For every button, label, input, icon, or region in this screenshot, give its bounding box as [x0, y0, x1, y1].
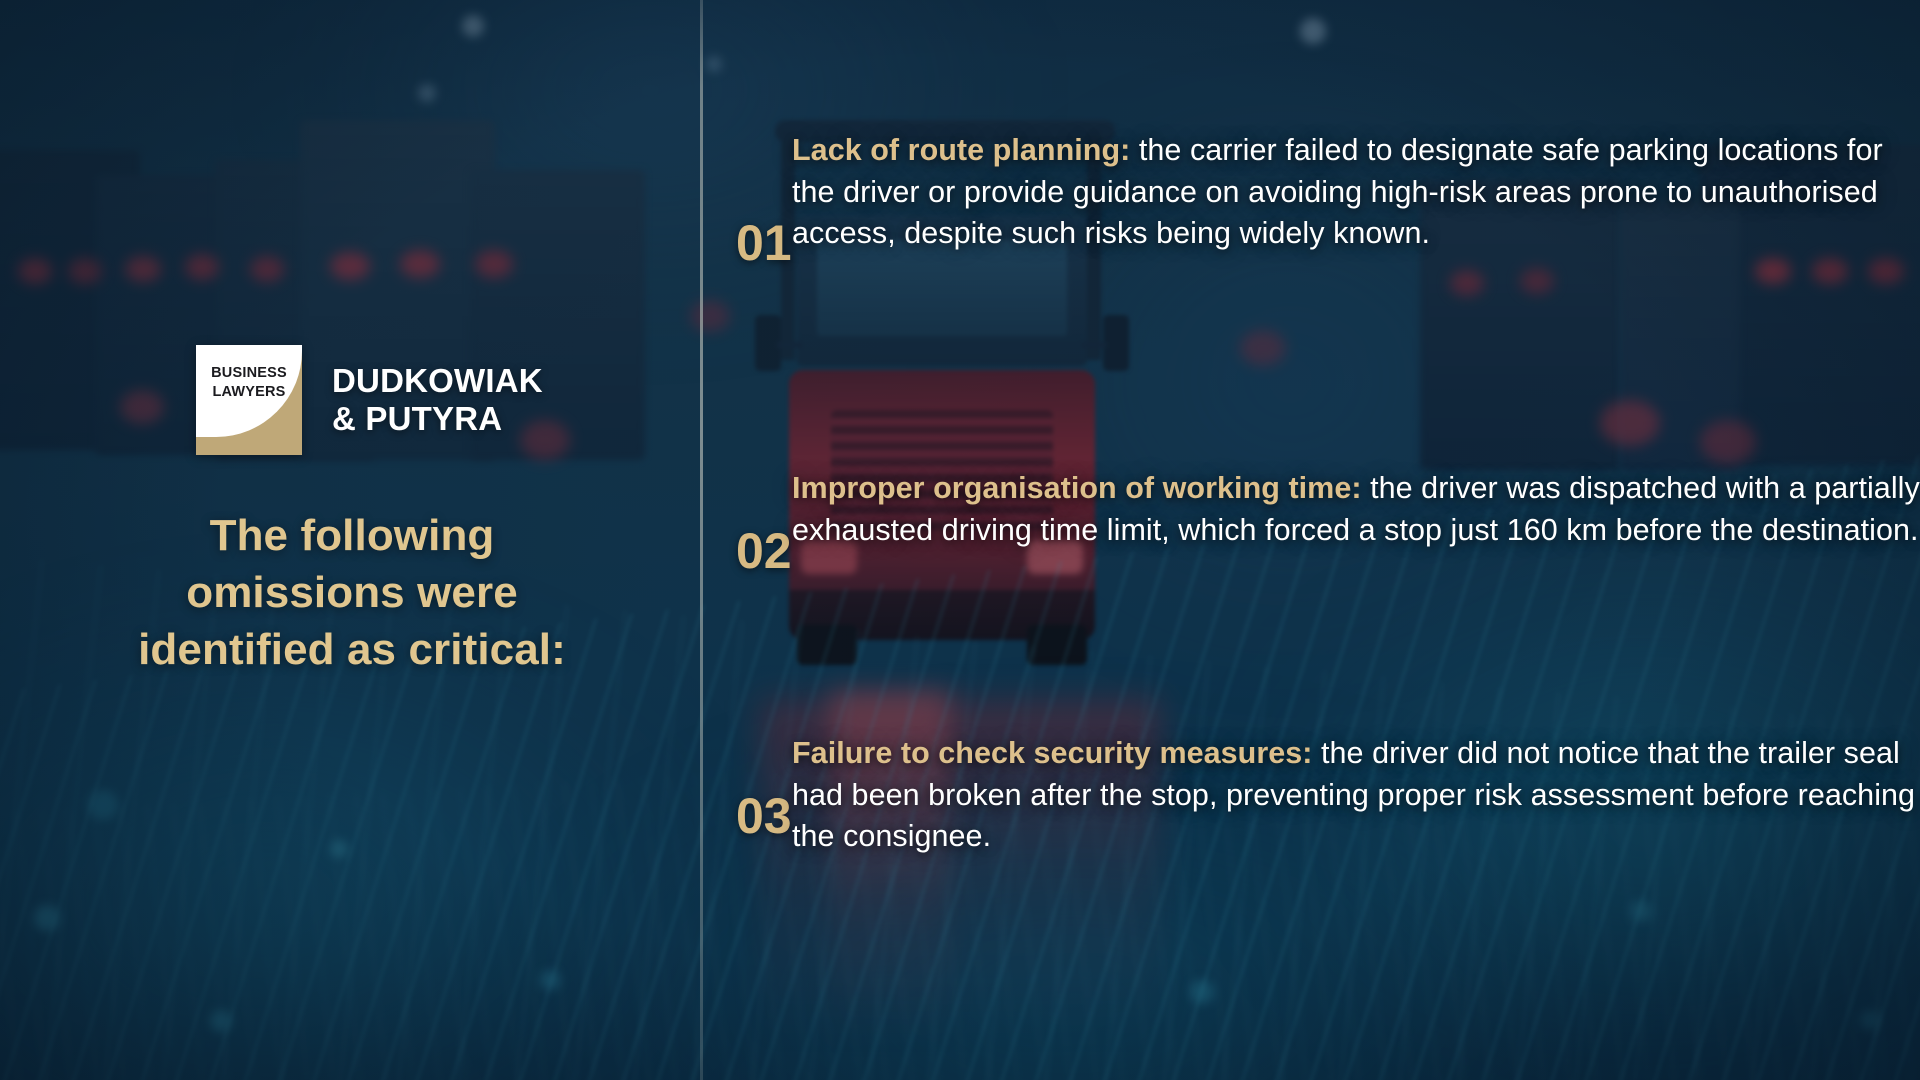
logo-text-line-2: LAWYERS: [212, 384, 285, 400]
omissions-list: 01 Lack of route planning: the carrier f…: [700, 0, 1920, 1080]
item-text: Improper organisation of working time: t…: [792, 468, 1920, 551]
logo-text: BUSINESSLAWYERS: [196, 364, 302, 401]
item-lead-in: Failure to check security measures:: [792, 736, 1313, 770]
brand-name: DUDKOWIAK& PUTYRA: [332, 362, 543, 439]
item-text: Lack of route planning: the carrier fail…: [792, 130, 1920, 255]
business-lawyers-logo-icon: BUSINESSLAWYERS: [196, 345, 302, 455]
brand-lockup: BUSINESSLAWYERS DUDKOWIAK& PUTYRA: [196, 345, 543, 455]
list-item: 03 Failure to check security measures: t…: [700, 733, 1920, 858]
left-panel: BUSINESSLAWYERS DUDKOWIAK& PUTYRA The fo…: [0, 0, 700, 1080]
headline-line-3: identified as critical:: [138, 625, 566, 674]
item-text: Failure to check security measures: the …: [792, 733, 1920, 858]
brand-name-line-1: DUDKOWIAK: [332, 362, 543, 399]
item-number: 03: [700, 733, 792, 841]
item-lead-in: Lack of route planning:: [792, 133, 1130, 167]
brand-name-line-2: & PUTYRA: [332, 400, 502, 437]
logo-text-line-1: BUSINESS: [211, 365, 287, 381]
slide-content: BUSINESSLAWYERS DUDKOWIAK& PUTYRA The fo…: [0, 0, 1920, 1080]
item-lead-in: Improper organisation of working time:: [792, 471, 1362, 505]
headline-line-1: The following: [210, 511, 495, 560]
item-number: 01: [700, 130, 792, 268]
item-number: 02: [700, 468, 792, 576]
page-title: The followingomissions wereidentified as…: [52, 508, 652, 678]
headline-line-2: omissions were: [186, 568, 518, 617]
list-item: 02 Improper organisation of working time…: [700, 468, 1920, 576]
list-item: 01 Lack of route planning: the carrier f…: [700, 130, 1920, 268]
